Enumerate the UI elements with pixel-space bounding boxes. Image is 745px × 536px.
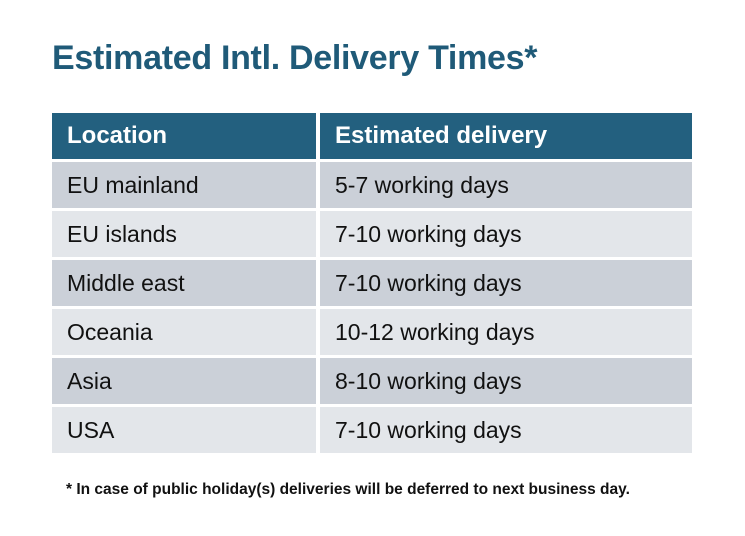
delivery-times-page: Estimated Intl. Delivery Times* Location… [0, 0, 745, 536]
page-title: Estimated Intl. Delivery Times* [52, 36, 537, 80]
table-row: Asia 8-10 working days [52, 358, 692, 404]
cell-location: Middle east [52, 260, 316, 306]
table-row: Oceania 10-12 working days [52, 309, 692, 355]
cell-location: Asia [52, 358, 316, 404]
cell-delivery: 10-12 working days [320, 309, 692, 355]
cell-delivery: 7-10 working days [320, 260, 692, 306]
column-header-estimated-delivery: Estimated delivery [320, 113, 692, 159]
cell-location: Oceania [52, 309, 316, 355]
cell-delivery: 7-10 working days [320, 407, 692, 453]
table-header-row: Location Estimated delivery [52, 113, 692, 159]
table-row: Middle east 7-10 working days [52, 260, 692, 306]
cell-location: EU islands [52, 211, 316, 257]
column-header-location: Location [52, 113, 316, 159]
table-row: USA 7-10 working days [52, 407, 692, 453]
cell-location: EU mainland [52, 162, 316, 208]
cell-location: USA [52, 407, 316, 453]
cell-delivery: 8-10 working days [320, 358, 692, 404]
cell-delivery: 5-7 working days [320, 162, 692, 208]
footnote: * In case of public holiday(s) deliverie… [66, 481, 630, 499]
table-row: EU islands 7-10 working days [52, 211, 692, 257]
cell-delivery: 7-10 working days [320, 211, 692, 257]
delivery-times-table: Location Estimated delivery EU mainland … [52, 113, 692, 453]
table-row: EU mainland 5-7 working days [52, 162, 692, 208]
